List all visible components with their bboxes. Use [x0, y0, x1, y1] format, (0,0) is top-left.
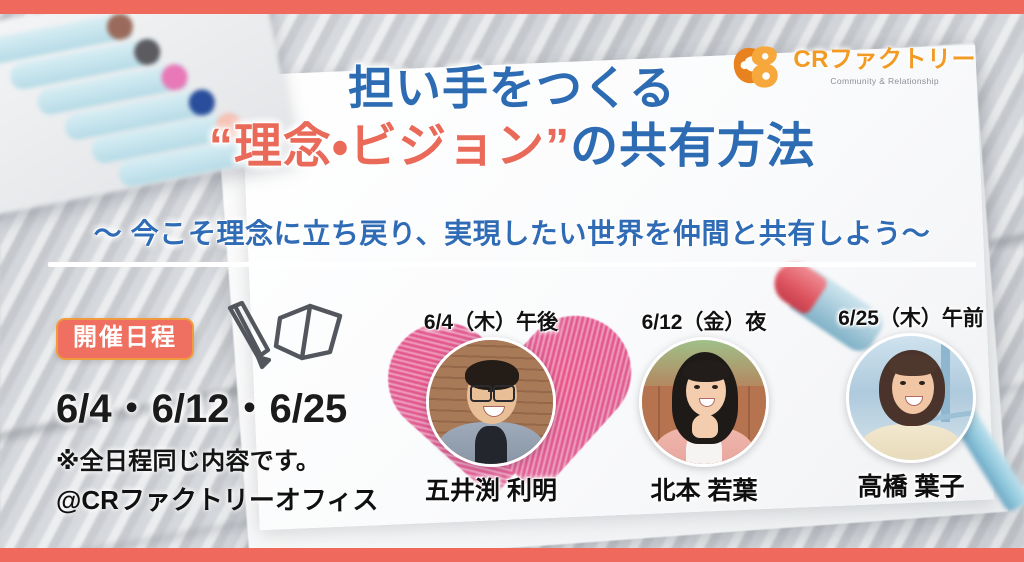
portrait-bangs: [889, 354, 937, 376]
divider-rule: [48, 262, 976, 267]
poster-content: CRファクトリー Community & Relationship 担い手をつく…: [0, 0, 1024, 562]
speaker-name: 五井渕 利明: [396, 471, 586, 507]
stationery-doodles: [218, 300, 358, 372]
portrait-woman-short-hair: [849, 336, 973, 460]
portrait-glasses: [470, 385, 492, 402]
portrait-body: [859, 424, 963, 463]
speaker-avatar: [639, 337, 769, 467]
portrait-hands: [692, 414, 718, 438]
headline-line-2-suffix: の共有方法: [570, 120, 815, 173]
schedule-badge: 開催日程: [56, 318, 194, 360]
poster-canvas: CRファクトリー Community & Relationship 担い手をつく…: [0, 0, 1024, 562]
speaker-card[interactable]: 6/12（金）夜: [609, 306, 799, 507]
schedule-venue: @CRファクトリーオフィス: [56, 480, 396, 517]
portrait-bangs: [683, 360, 729, 382]
portrait-young-woman: [642, 340, 766, 464]
speaker-name: 高橋 葉子: [816, 467, 1006, 503]
speaker-session-time: 6/4（木）午後: [396, 306, 586, 336]
schedule-note: ※全日程同じ内容です。: [56, 441, 396, 476]
headline-line-1: 担い手をつくる: [0, 60, 1024, 117]
schedule-dates: 6/4・6/12・6/25: [56, 376, 396, 434]
speaker-avatar: [426, 337, 556, 467]
portrait-glasses-bridge: [488, 390, 493, 392]
portrait-eye-left: [900, 381, 906, 385]
portrait-man-glasses: [429, 340, 553, 464]
top-accent-bar: [0, 0, 1024, 14]
portrait-eye-right: [712, 385, 718, 389]
open-book-icon: [276, 306, 340, 358]
portrait-eye-left: [694, 385, 700, 389]
portrait-eye-right: [919, 381, 925, 385]
portrait-shirt: [475, 426, 507, 467]
speaker-card[interactable]: 6/4（木）午後 五井渕 利明: [396, 306, 586, 507]
headline-line-2: “理念・ビジョン”の共有方法: [0, 117, 1024, 177]
poster-subtitle: 〜 今こそ理念に立ち戻り、実現したい世界を仲間と共有しよう〜: [0, 212, 1024, 252]
poster-headline: 担い手をつくる “理念・ビジョン”の共有方法: [0, 60, 1024, 177]
pencil-icon: [230, 303, 269, 367]
speaker-session-time: 6/25（木）午前: [816, 302, 1006, 332]
speaker-session-time: 6/12（金）夜: [609, 306, 799, 336]
speaker-name: 北本 若葉: [609, 471, 799, 507]
headline-accent-text: “理念・ビジョン”: [209, 120, 570, 173]
speaker-card[interactable]: 6/25（木）午前 高橋 葉子: [816, 302, 1006, 503]
bottom-accent-bar: [0, 548, 1024, 562]
speaker-avatar: [846, 333, 976, 463]
speakers-row: 6/4（木）午後 五井渕 利明: [396, 306, 1012, 506]
portrait-glasses-right: [493, 385, 515, 402]
